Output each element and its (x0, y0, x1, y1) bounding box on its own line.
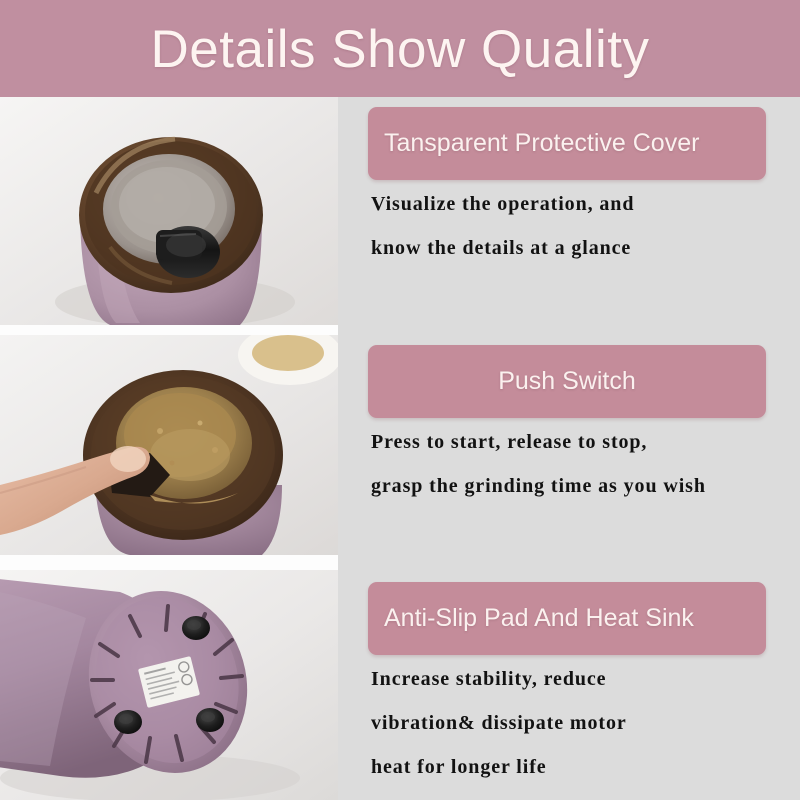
feature-block-push-switch: Push Switch Press to start, release to s… (368, 345, 766, 496)
feature-description: Visualize the operation, and know the de… (368, 194, 766, 258)
feature-description: Press to start, release to stop, grasp t… (368, 432, 766, 496)
photo-gap (0, 555, 338, 570)
feature-banner: Tansparent Protective Cover (368, 107, 766, 180)
page-title: Details Show Quality (151, 23, 650, 76)
photo-finger-pressing-push-switch (0, 335, 338, 555)
feature-description-line: know the details at a glance (371, 238, 766, 258)
feature-banner: Anti-Slip Pad And Heat Sink (368, 582, 766, 655)
feature-list: Tansparent Protective Cover Visualize th… (338, 97, 800, 800)
feature-banner-label: Push Switch (498, 369, 636, 394)
feature-description: Increase stability, reduce vibration& di… (368, 669, 766, 777)
feature-description-line: Press to start, release to stop, (371, 432, 766, 452)
product-infographic: Details Show Quality (0, 0, 800, 800)
feature-banner-label: Anti-Slip Pad And Heat Sink (384, 606, 694, 631)
feature-description-line: Visualize the operation, and (371, 194, 766, 214)
header-band: Details Show Quality (0, 0, 800, 97)
photo-grinder-base-heat-sink (0, 570, 338, 800)
feature-banner-label: Tansparent Protective Cover (384, 131, 699, 156)
feature-block-transparent-cover: Tansparent Protective Cover Visualize th… (368, 107, 766, 258)
photo-gap (0, 325, 338, 335)
feature-description-line: Increase stability, reduce (371, 669, 766, 689)
feature-block-anti-slip-pad: Anti-Slip Pad And Heat Sink Increase sta… (368, 582, 766, 777)
feature-description-line: grasp the grinding time as you wish (371, 476, 766, 496)
feature-description-line: heat for longer life (371, 757, 766, 777)
feature-description-line: vibration& dissipate motor (371, 713, 766, 733)
product-photo-column (0, 97, 338, 800)
photo-transparent-lid-top-view (0, 97, 338, 325)
feature-banner: Push Switch (368, 345, 766, 418)
